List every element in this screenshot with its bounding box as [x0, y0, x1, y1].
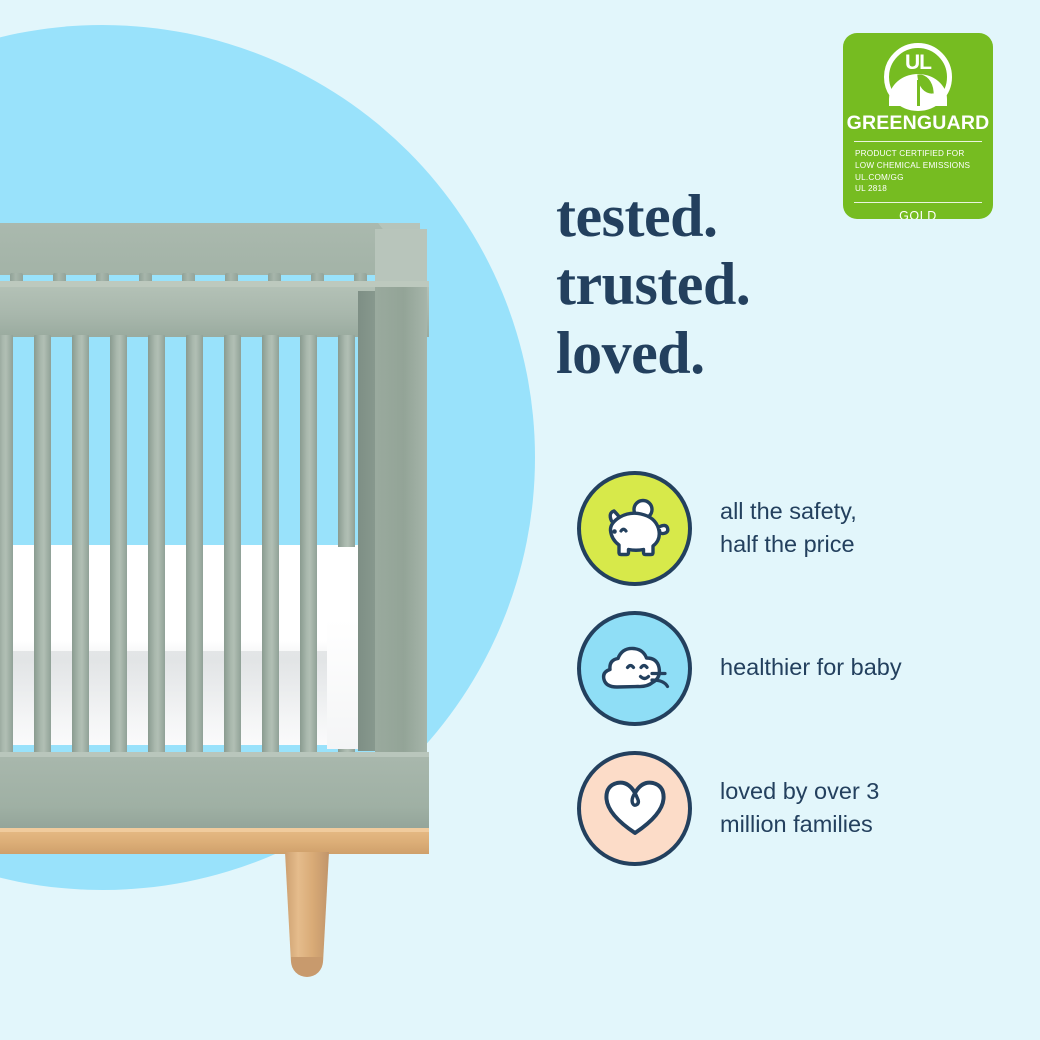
- crib-side-panel: [375, 287, 427, 752]
- badge-detail-line-1: PRODUCT CERTIFIED FOR: [855, 148, 993, 160]
- headline-line-3: loved.: [556, 319, 976, 387]
- piggy-bank-icon: [577, 471, 692, 586]
- feature-label-line-2: half the price: [720, 528, 857, 561]
- feature-item-healthier: healthier for baby: [577, 598, 1007, 738]
- badge-title: GREENGUARD: [843, 113, 993, 134]
- headline: tested. trusted. loved.: [556, 182, 976, 387]
- crib-wooden-leg: [285, 852, 329, 974]
- feature-list: all the safety, half the price healthier…: [577, 458, 1007, 878]
- crib-wood-plinth-highlight: [0, 828, 429, 832]
- crib-slat: [224, 335, 241, 755]
- badge-divider-top: [854, 141, 982, 142]
- crib-base-rail-highlight: [0, 752, 429, 757]
- feature-item-loved: loved by over 3 million families: [577, 738, 1007, 878]
- ul-logo-icon: UL: [884, 43, 952, 111]
- crib-slat: [148, 335, 165, 755]
- crib-slat: [186, 335, 203, 755]
- cloud-blowing-icon: [577, 611, 692, 726]
- badge-detail-line-2: LOW CHEMICAL EMISSIONS: [855, 160, 993, 172]
- feature-label-loved: loved by over 3 million families: [720, 775, 879, 842]
- crib-product-image: [0, 215, 435, 875]
- crib-slat: [0, 335, 13, 755]
- feature-item-safety-price: all the safety, half the price: [577, 458, 1007, 598]
- feature-label-healthier: healthier for baby: [720, 651, 902, 684]
- feature-label-line-1: healthier for baby: [720, 651, 902, 684]
- headline-line-2: trusted.: [556, 250, 976, 318]
- crib-slat: [34, 335, 51, 755]
- crib-slat: [262, 335, 279, 755]
- marketing-graphic: UL GREENGUARD PRODUCT CERTIFIED FOR LOW …: [0, 0, 1040, 1040]
- feature-label-line-2: million families: [720, 808, 879, 841]
- feature-label-line-1: all the safety,: [720, 495, 857, 528]
- heart-icon: [577, 751, 692, 866]
- headline-line-1: tested.: [556, 182, 976, 250]
- crib-base-rail: [0, 752, 429, 830]
- ul-monogram: UL: [884, 52, 952, 73]
- crib-slats: [0, 335, 362, 755]
- crib-slat: [300, 335, 317, 755]
- feature-label-line-1: loved by over 3: [720, 775, 879, 808]
- crib-far-rail: [0, 223, 420, 275]
- crib-slat: [72, 335, 89, 755]
- feature-label-safety-price: all the safety, half the price: [720, 495, 857, 562]
- crib-slat: [110, 335, 127, 755]
